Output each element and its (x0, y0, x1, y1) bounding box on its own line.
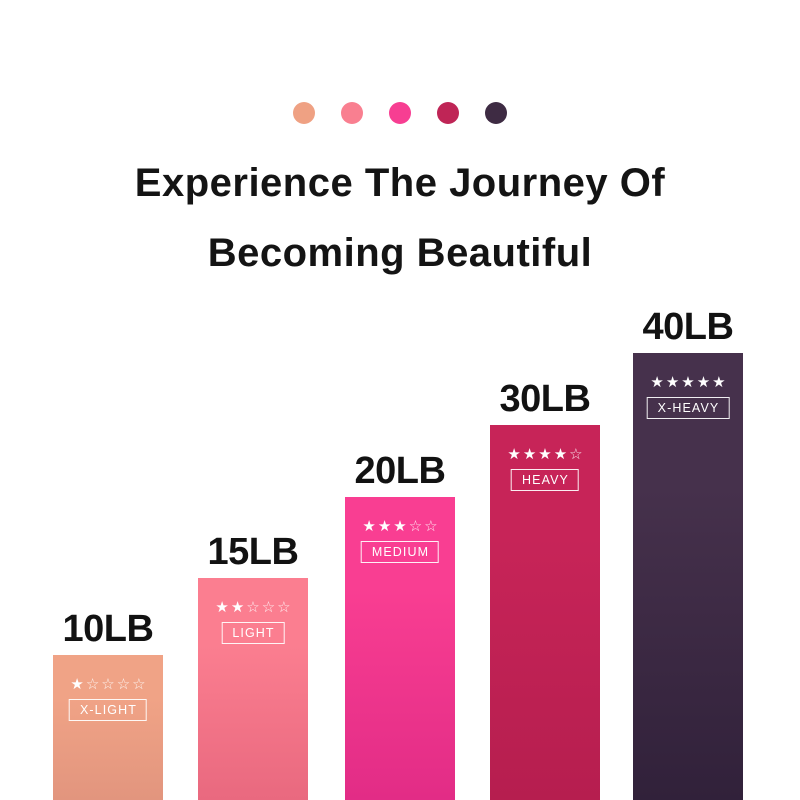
star-rating-heavy: ★★★★☆ (507, 447, 582, 462)
bar-group-x-heavy: 40LB★★★★★X-HEAVY (633, 301, 743, 800)
star-rating-light: ★★☆☆☆ (215, 600, 290, 615)
bar-group-heavy: 30LB★★★★☆HEAVY (490, 373, 600, 800)
star-filled-icon: ★ (378, 519, 391, 534)
bar-group-light: 15LB★★☆☆☆LIGHT (198, 526, 308, 800)
star-empty-icon: ☆ (262, 600, 275, 615)
star-rating-medium: ★★★☆☆ (362, 519, 437, 534)
star-rating-x-light: ★☆☆☆☆ (70, 677, 145, 692)
bar-weight-label-medium: 20LB (355, 450, 446, 493)
star-filled-icon: ★ (666, 375, 679, 390)
star-filled-icon: ★ (538, 447, 551, 462)
tier-pill-medium: MEDIUM (361, 541, 439, 563)
bar-weight-label-heavy: 30LB (500, 378, 591, 421)
tier-pill-heavy: HEAVY (511, 469, 579, 491)
bar-group-medium: 20LB★★★☆☆MEDIUM (345, 445, 455, 800)
star-filled-icon: ★ (697, 375, 710, 390)
star-filled-icon: ★ (523, 447, 536, 462)
star-empty-icon: ☆ (246, 600, 259, 615)
star-filled-icon: ★ (231, 600, 244, 615)
bar-light[interactable]: ★★☆☆☆LIGHT (198, 578, 308, 800)
resistance-band-bar-chart: 10LB★☆☆☆☆X-LIGHT15LB★★☆☆☆LIGHT20LB★★★☆☆M… (0, 0, 800, 800)
tier-pill-x-heavy: X-HEAVY (647, 397, 730, 419)
bar-badge-x-heavy: ★★★★★X-HEAVY (641, 375, 736, 419)
bar-heavy[interactable]: ★★★★☆HEAVY (490, 425, 600, 800)
star-empty-icon: ☆ (132, 677, 145, 692)
tier-pill-light: LIGHT (221, 622, 284, 644)
star-rating-x-heavy: ★★★★★ (650, 375, 725, 390)
star-filled-icon: ★ (215, 600, 228, 615)
bar-x-heavy[interactable]: ★★★★★X-HEAVY (633, 353, 743, 800)
bar-badge-heavy: ★★★★☆HEAVY (498, 447, 593, 491)
bar-badge-light: ★★☆☆☆LIGHT (206, 600, 301, 644)
star-empty-icon: ☆ (409, 519, 422, 534)
star-filled-icon: ★ (681, 375, 694, 390)
star-filled-icon: ★ (554, 447, 567, 462)
star-empty-icon: ☆ (277, 600, 290, 615)
star-filled-icon: ★ (650, 375, 663, 390)
bar-badge-medium: ★★★☆☆MEDIUM (353, 519, 448, 563)
star-empty-icon: ☆ (101, 677, 114, 692)
bar-group-x-light: 10LB★☆☆☆☆X-LIGHT (53, 603, 163, 800)
bar-weight-label-light: 15LB (208, 531, 299, 574)
star-filled-icon: ★ (393, 519, 406, 534)
bar-weight-label-x-light: 10LB (63, 608, 154, 651)
star-empty-icon: ☆ (86, 677, 99, 692)
bar-weight-label-x-heavy: 40LB (643, 306, 734, 349)
star-filled-icon: ★ (362, 519, 375, 534)
star-empty-icon: ☆ (424, 519, 437, 534)
tier-pill-x-light: X-LIGHT (69, 699, 147, 721)
star-empty-icon: ☆ (117, 677, 130, 692)
star-filled-icon: ★ (712, 375, 725, 390)
bar-badge-x-light: ★☆☆☆☆X-LIGHT (61, 677, 156, 721)
bar-medium[interactable]: ★★★☆☆MEDIUM (345, 497, 455, 800)
star-filled-icon: ★ (70, 677, 83, 692)
star-filled-icon: ★ (507, 447, 520, 462)
star-empty-icon: ☆ (569, 447, 582, 462)
bar-x-light[interactable]: ★☆☆☆☆X-LIGHT (53, 655, 163, 800)
